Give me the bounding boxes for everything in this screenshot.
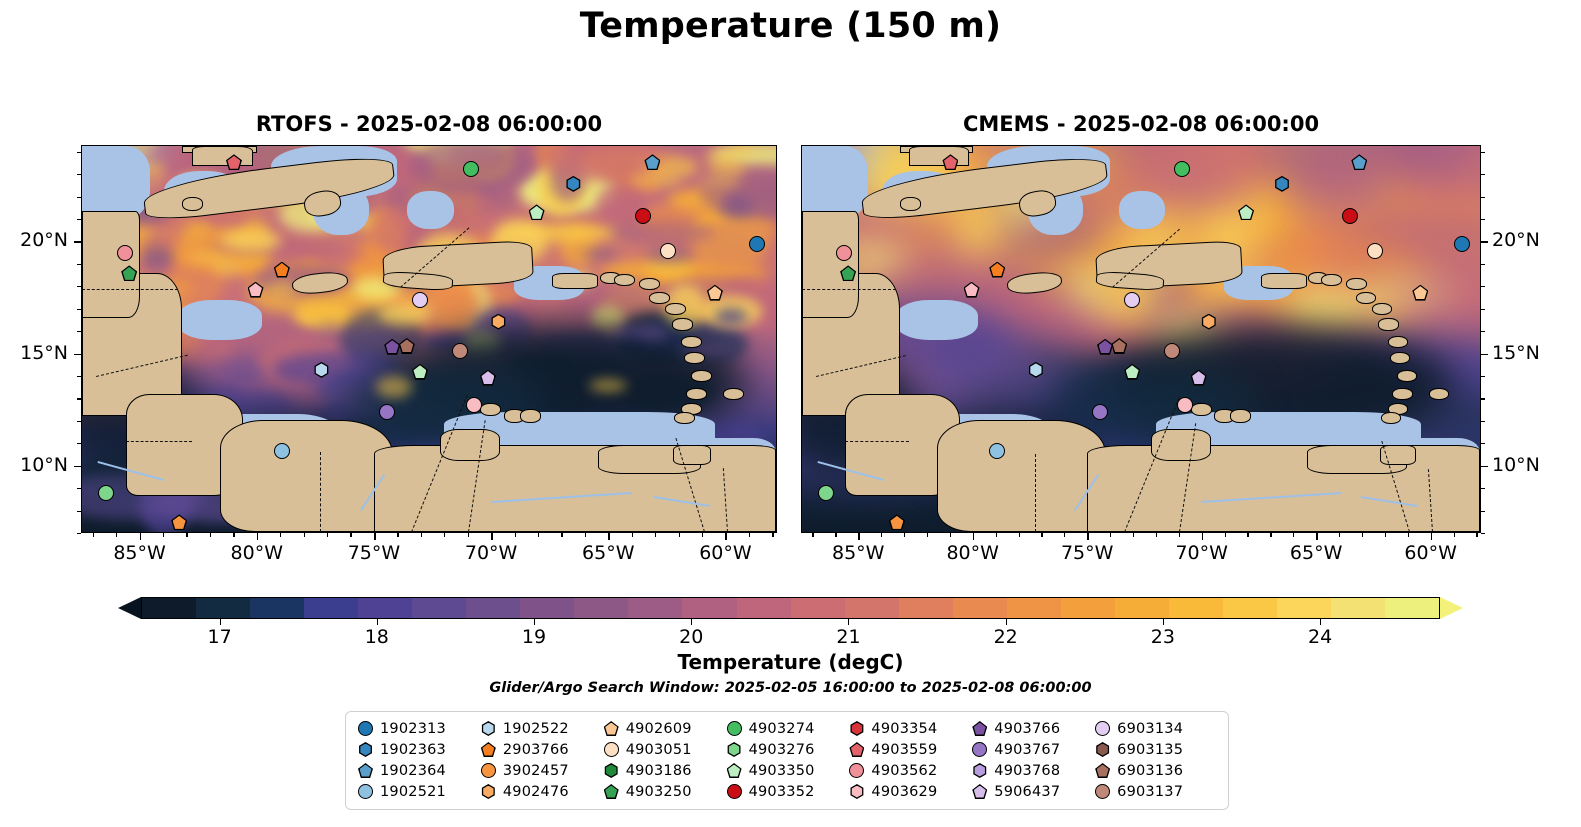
legend-item-label: 3902457	[503, 763, 569, 779]
colombia	[220, 420, 393, 532]
y-minor-tick	[1481, 286, 1485, 287]
x-minor-tick	[1339, 533, 1340, 537]
x-minor-tick	[304, 533, 305, 537]
x-tick-label: 85°W	[90, 542, 190, 564]
colorbar-extend-low	[118, 597, 141, 619]
x-minor-tick	[812, 533, 813, 537]
y-minor-tick	[77, 264, 81, 265]
south-america	[374, 445, 776, 532]
legend-item-label: 4903051	[626, 742, 692, 758]
lesser-antilles-island	[649, 292, 670, 304]
platform-marker[interactable]	[117, 245, 133, 261]
legend-marker-icon	[972, 784, 987, 799]
x-minor-tick	[679, 533, 680, 537]
x-minor-tick	[444, 533, 445, 537]
legend-item-label: 1902363	[380, 742, 446, 758]
map-panel-rtofs[interactable]	[81, 145, 777, 533]
x-tick-label: 65°W	[558, 542, 658, 564]
mosquito-bank	[896, 300, 978, 340]
geography-layer	[82, 146, 776, 532]
x-minor-tick	[950, 533, 951, 537]
lesser-antilles-island	[1390, 352, 1411, 364]
page-title: Temperature (150 m)	[0, 6, 1581, 46]
legend-item[interactable]: 4903276	[727, 740, 850, 759]
x-minor-tick	[904, 533, 905, 537]
x-minor-tick	[93, 533, 94, 537]
legend-item[interactable]: 4903559	[849, 740, 972, 759]
y-tick-label: 10°N	[0, 454, 68, 476]
colorbar-tick-label: 24	[1280, 626, 1360, 648]
platform-marker[interactable]	[274, 443, 290, 459]
legend-item-label: 1902522	[503, 721, 569, 737]
x-tick	[608, 533, 610, 540]
y-minor-tick	[77, 488, 81, 489]
colorbar-tick	[1320, 619, 1321, 625]
platform-marker[interactable]	[1351, 154, 1367, 170]
platform-marker[interactable]	[248, 282, 264, 298]
x-minor-tick	[1476, 533, 1477, 537]
x-minor-tick	[1110, 533, 1111, 537]
colorbar-tick	[377, 619, 378, 625]
x-minor-tick	[233, 533, 234, 537]
x-minor-tick	[1362, 533, 1363, 537]
legend-marker-icon	[358, 763, 373, 778]
legend-marker-icon	[358, 784, 373, 799]
legend-item[interactable]: 3902457	[481, 761, 604, 780]
x-tick-label: 85°W	[808, 542, 908, 564]
legend-item-label: 4903768	[994, 763, 1060, 779]
x-tick	[1431, 533, 1433, 540]
y-tick	[74, 241, 81, 243]
map-field-rtofs	[82, 146, 776, 532]
y-minor-tick	[1481, 443, 1485, 444]
x-minor-tick	[655, 533, 656, 537]
y-tick	[1481, 354, 1488, 356]
lesser-antilles-island	[691, 370, 712, 382]
x-minor-tick	[632, 533, 633, 537]
abc-island	[480, 403, 501, 416]
colorbar-tick-label: 22	[966, 626, 1046, 648]
x-minor-tick	[210, 533, 211, 537]
y-minor-tick	[1481, 488, 1485, 489]
isla-juventud	[900, 197, 921, 210]
legend-item-label: 4903354	[871, 721, 937, 737]
platform-marker[interactable]	[836, 245, 852, 261]
legend-item[interactable]: 4903051	[604, 740, 727, 759]
colorbar-tick	[534, 619, 535, 625]
legend-marker-icon	[604, 721, 619, 736]
legend-item-label: 4903629	[871, 784, 937, 800]
legend-item[interactable]: 4902609	[604, 719, 727, 738]
platform-marker[interactable]	[660, 243, 676, 259]
y-tick	[1481, 466, 1488, 468]
lesser-antilles-island	[672, 318, 693, 330]
platform-marker[interactable]	[529, 204, 545, 220]
legend-marker-icon	[849, 742, 864, 757]
platform-marker[interactable]	[1164, 343, 1180, 359]
platform-marker[interactable]	[1342, 208, 1358, 224]
y-tick-label: 15°N	[0, 342, 68, 364]
x-minor-tick	[835, 533, 836, 537]
x-minor-tick	[881, 533, 882, 537]
yucatan-mexico	[82, 211, 140, 318]
lesser-antilles-island	[665, 303, 686, 315]
legend-grid: 1902313190252249026094903274490335449037…	[358, 719, 1218, 801]
legend-item[interactable]: 4903562	[849, 761, 972, 780]
legend-item[interactable]: 6903137	[1095, 782, 1218, 801]
y-minor-tick	[1481, 331, 1485, 332]
platform-marker[interactable]	[98, 485, 114, 501]
political-border	[82, 289, 178, 290]
legend-marker-icon	[604, 784, 619, 799]
legend-item[interactable]: 1902313	[358, 719, 481, 738]
x-tick-label: 60°W	[675, 542, 775, 564]
y-minor-tick	[77, 197, 81, 198]
legend-item-label: 4903562	[871, 763, 937, 779]
map-panel-cmems[interactable]	[801, 145, 1481, 533]
political-border	[845, 441, 909, 442]
colorbar-gradient	[141, 597, 1440, 619]
turks-caicos-bank	[407, 191, 454, 229]
florida-peninsula	[192, 146, 253, 166]
x-minor-tick	[280, 533, 281, 537]
legend-item-label: 4903186	[626, 763, 692, 779]
x-minor-tick	[1064, 533, 1065, 537]
search-window-caption: Glider/Argo Search Window: 2025-02-05 16…	[0, 680, 1581, 696]
legend-item[interactable]: 1902364	[358, 761, 481, 780]
legend-item[interactable]: 4903766	[972, 719, 1095, 738]
x-tick	[973, 533, 975, 540]
platform-marker[interactable]	[1111, 338, 1127, 354]
x-minor-tick	[1385, 533, 1386, 537]
platform-marker[interactable]	[989, 262, 1005, 278]
legend-item-label: 1902313	[380, 721, 446, 737]
platform-marker[interactable]	[412, 364, 428, 380]
y-minor-tick	[77, 286, 81, 287]
colorbar-tick-label: 18	[337, 626, 417, 648]
x-minor-tick	[927, 533, 928, 537]
south-america	[1087, 445, 1480, 532]
jamaica	[291, 270, 349, 296]
turks-caicos-bank	[1119, 191, 1165, 229]
platform-marker[interactable]	[1174, 161, 1190, 177]
x-minor-tick	[1019, 533, 1020, 537]
legend-marker-icon	[481, 763, 496, 778]
platform-marker[interactable]	[1412, 285, 1428, 301]
x-minor-tick	[1156, 533, 1157, 537]
colombia	[937, 420, 1106, 532]
y-minor-tick	[1481, 197, 1485, 198]
jamaica	[1007, 270, 1064, 296]
x-tick	[1202, 533, 1204, 540]
legend-item-label: 4903276	[749, 742, 815, 758]
x-tick	[491, 533, 493, 540]
platform-marker[interactable]	[964, 282, 980, 298]
x-minor-tick	[1225, 533, 1226, 537]
y-minor-tick	[1481, 152, 1485, 153]
x-minor-tick	[397, 533, 398, 537]
legend-item-label: 4902609	[626, 721, 692, 737]
x-tick-label: 70°W	[441, 542, 541, 564]
colorbar-tick	[1163, 619, 1164, 625]
lesser-antilles-island	[723, 388, 744, 400]
platform-marker[interactable]	[840, 265, 856, 281]
x-tick-label: 60°W	[1381, 542, 1481, 564]
platform-marker[interactable]	[274, 262, 290, 278]
platform-marker[interactable]	[635, 208, 651, 224]
florida-peninsula	[909, 146, 968, 166]
legend-marker-icon	[972, 763, 987, 778]
y-minor-tick	[1481, 398, 1485, 399]
x-tick	[257, 533, 259, 540]
colorbar-tick	[1006, 619, 1007, 625]
legend-item-label: 4903352	[749, 784, 815, 800]
legend-item[interactable]: 6903136	[1095, 761, 1218, 780]
platform-marker[interactable]	[490, 314, 506, 330]
political-border	[1035, 454, 1036, 532]
y-minor-tick	[1481, 309, 1485, 310]
lesser-antilles-island	[1378, 318, 1399, 330]
y-minor-tick	[77, 511, 81, 512]
legend-item-label: 4903274	[749, 721, 815, 737]
y-minor-tick	[1481, 511, 1485, 512]
lesser-antilles-island	[1429, 388, 1450, 400]
legend-item[interactable]: 4903274	[727, 719, 850, 738]
platform-marker[interactable]	[226, 154, 242, 170]
lesser-antilles-island	[1356, 292, 1377, 304]
y-minor-tick	[1481, 219, 1485, 220]
legend-marker-icon	[358, 742, 373, 757]
puerto-rico	[1261, 273, 1307, 289]
legend-item[interactable]: 2903766	[481, 740, 604, 759]
legend-item[interactable]: 4903354	[849, 719, 972, 738]
colorbar-tick	[691, 619, 692, 625]
platform-marker[interactable]	[466, 397, 482, 413]
platform-marker[interactable]	[1124, 364, 1140, 380]
legend-item-label: 4903350	[749, 763, 815, 779]
legend-marker-icon	[849, 784, 864, 799]
y-minor-tick	[77, 421, 81, 422]
legend-item[interactable]: 4903767	[972, 740, 1095, 759]
platform-marker[interactable]	[889, 514, 905, 530]
lesser-antilles-island	[681, 336, 702, 348]
x-minor-tick	[350, 533, 351, 537]
colorbar-extend-high	[1440, 597, 1463, 619]
legend-marker-icon	[481, 784, 496, 799]
platform-marker[interactable]	[644, 154, 660, 170]
y-tick	[1481, 241, 1488, 243]
x-minor-tick	[1270, 533, 1271, 537]
platform-marker[interactable]	[463, 161, 479, 177]
legend-item-label: 5906437	[994, 784, 1060, 800]
colorbar[interactable]	[118, 597, 1463, 619]
legend-item-label: 1902364	[380, 763, 446, 779]
political-border	[802, 289, 896, 290]
x-minor-tick	[116, 533, 117, 537]
platform-marker[interactable]	[1124, 292, 1140, 308]
legend-marker-icon	[604, 763, 619, 778]
lesser-antilles-island	[686, 388, 707, 400]
lesser-antilles-island	[614, 274, 635, 286]
platform-marker[interactable]	[989, 443, 1005, 459]
platform-marker[interactable]	[1191, 370, 1207, 386]
abc-island	[520, 409, 541, 422]
legend-item[interactable]: 4903186	[604, 761, 727, 780]
x-tick-label: 80°W	[923, 542, 1023, 564]
platform-marker[interactable]	[1201, 314, 1217, 330]
platform-marker[interactable]	[379, 404, 395, 420]
legend-item-label: 2903766	[503, 742, 569, 758]
y-tick-label: 20°N	[0, 229, 68, 251]
y-minor-tick	[77, 331, 81, 332]
platform-marker[interactable]	[565, 176, 581, 192]
legend-marker-icon	[849, 763, 864, 778]
lesser-antilles-island	[639, 278, 660, 290]
legend-item[interactable]: 4903629	[849, 782, 972, 801]
legend-marker-icon	[727, 763, 742, 778]
y-minor-tick	[77, 443, 81, 444]
x-minor-tick	[515, 533, 516, 537]
geography-layer	[802, 146, 1480, 532]
x-minor-tick	[538, 533, 539, 537]
legend-item[interactable]: 4902476	[481, 782, 604, 801]
y-minor-tick	[77, 219, 81, 220]
colorbar-label: Temperature (degC)	[0, 650, 1581, 674]
platform-marker[interactable]	[1367, 243, 1383, 259]
x-tick	[858, 533, 860, 540]
legend-item[interactable]: 4903352	[727, 782, 850, 801]
legend-item[interactable]: 4903350	[727, 761, 850, 780]
x-tick	[1087, 533, 1089, 540]
legend-marker-icon	[358, 721, 373, 736]
legend-item-label: 6903135	[1117, 742, 1183, 758]
legend-item[interactable]: 1902363	[358, 740, 481, 759]
legend-marker-icon	[1095, 742, 1110, 757]
y-minor-tick	[77, 174, 81, 175]
x-minor-tick	[1247, 533, 1248, 537]
colorbar-tick-label: 17	[180, 626, 260, 648]
platform-marker[interactable]	[313, 362, 329, 378]
colorbar-tick-label: 20	[651, 626, 731, 648]
platform-marker[interactable]	[121, 265, 137, 281]
y-minor-tick	[1481, 376, 1485, 377]
y-minor-tick	[1481, 264, 1485, 265]
legend-item[interactable]: 6903134	[1095, 719, 1218, 738]
lesser-antilles-island	[1372, 303, 1393, 315]
legend-item[interactable]: 1902521	[358, 782, 481, 801]
mosquito-bank	[178, 300, 262, 340]
abc-island	[1230, 409, 1251, 422]
x-minor-tick	[561, 533, 562, 537]
x-minor-tick	[186, 533, 187, 537]
legend-item-label: 4903767	[994, 742, 1060, 758]
legend-item[interactable]: 5906437	[972, 782, 1095, 801]
x-tick-label: 80°W	[207, 542, 307, 564]
platform-marker[interactable]	[452, 343, 468, 359]
y-minor-tick	[77, 398, 81, 399]
y-tick-label: 15°N	[1492, 342, 1577, 364]
legend-marker-icon	[972, 721, 987, 736]
legend-item-label: 4903250	[626, 784, 692, 800]
legend-marker-icon	[849, 721, 864, 736]
x-minor-tick	[468, 533, 469, 537]
platform-marker[interactable]	[707, 285, 723, 301]
platform-marker[interactable]	[1274, 176, 1290, 192]
colorbar-tick	[848, 619, 849, 625]
x-tick	[374, 533, 376, 540]
colorbar-tick-label: 23	[1123, 626, 1203, 648]
platform-marker[interactable]	[1454, 236, 1470, 252]
x-minor-tick	[585, 533, 586, 537]
colorbar-tick-label: 21	[808, 626, 888, 648]
legend-marker-icon	[972, 742, 987, 757]
platform-marker[interactable]	[1177, 397, 1193, 413]
legend-item[interactable]: 6903135	[1095, 740, 1218, 759]
x-minor-tick	[772, 533, 773, 537]
lesser-antilles-island	[1397, 370, 1418, 382]
isla-juventud	[182, 197, 203, 210]
y-minor-tick	[77, 533, 81, 534]
lesser-antilles-island	[1392, 388, 1413, 400]
platform-marker[interactable]	[480, 370, 496, 386]
x-minor-tick	[1454, 533, 1455, 537]
platform-marker[interactable]	[1092, 404, 1108, 420]
legend-marker-icon	[481, 721, 496, 736]
platform-marker[interactable]	[399, 338, 415, 354]
x-minor-tick	[421, 533, 422, 537]
platform-marker[interactable]	[942, 154, 958, 170]
legend-item[interactable]: 1902522	[481, 719, 604, 738]
platform-marker[interactable]	[171, 514, 187, 530]
platform-legend[interactable]: 1902313190252249026094903274490335449037…	[345, 711, 1229, 810]
x-tick	[1316, 533, 1318, 540]
lesser-antilles-island	[1388, 336, 1409, 348]
legend-marker-icon	[481, 742, 496, 757]
yucatan-mexico	[802, 211, 859, 318]
legend-item[interactable]: 4903768	[972, 761, 1095, 780]
x-minor-tick	[749, 533, 750, 537]
political-border	[126, 441, 191, 442]
legend-marker-icon	[1095, 721, 1110, 736]
platform-marker[interactable]	[1238, 204, 1254, 220]
panel-title-cmems: CMEMS - 2025-02-08 06:00:00	[801, 112, 1481, 136]
platform-marker[interactable]	[818, 485, 834, 501]
platform-marker[interactable]	[749, 236, 765, 252]
legend-item[interactable]: 4903250	[604, 782, 727, 801]
lesser-antilles-island	[684, 352, 705, 364]
colorbar-tick	[220, 619, 221, 625]
legend-item-label: 6903134	[1117, 721, 1183, 737]
x-minor-tick	[1041, 533, 1042, 537]
platform-marker[interactable]	[412, 292, 428, 308]
y-minor-tick	[1481, 533, 1485, 534]
platform-marker[interactable]	[1028, 362, 1044, 378]
colorbar-tick-label: 19	[494, 626, 574, 648]
x-tick-label: 75°W	[1037, 542, 1137, 564]
x-minor-tick	[996, 533, 997, 537]
y-minor-tick	[1481, 421, 1485, 422]
legend-item-label: 6903136	[1117, 763, 1183, 779]
x-tick	[140, 533, 142, 540]
x-tick-label: 70°W	[1152, 542, 1252, 564]
y-minor-tick	[77, 152, 81, 153]
y-tick	[74, 466, 81, 468]
y-minor-tick	[77, 309, 81, 310]
legend-marker-icon	[1095, 763, 1110, 778]
x-minor-tick	[1408, 533, 1409, 537]
abc-island	[1191, 403, 1212, 416]
puerto-rico	[552, 273, 599, 289]
